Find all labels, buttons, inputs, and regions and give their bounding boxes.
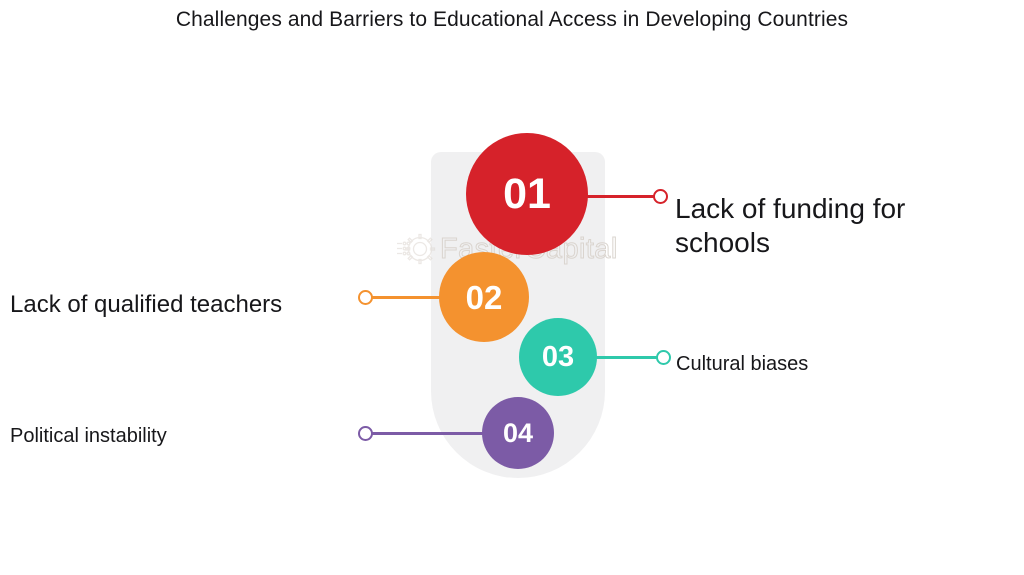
node-circle-4[interactable]: 04 [482,397,554,469]
connector-dot-2 [358,290,373,305]
connector-line-4 [370,432,496,435]
node-label-2: Lack of qualified teachers [10,291,350,319]
node-circle-1[interactable]: 01 [466,133,588,255]
connector-line-3 [585,356,665,359]
node-circle-3[interactable]: 03 [519,318,597,396]
connector-line-1 [577,195,662,198]
page-title: Challenges and Barriers to Educational A… [0,8,1024,32]
node-label-1: Lack of funding for schools [675,192,975,260]
connector-dot-3 [656,350,671,365]
connector-dot-1 [653,189,668,204]
node-label-4: Political instability [10,425,340,448]
connector-dot-4 [358,426,373,441]
node-label-3: Cultural biases [676,353,976,376]
node-circle-2[interactable]: 02 [439,252,529,342]
gear-icon [396,229,436,269]
